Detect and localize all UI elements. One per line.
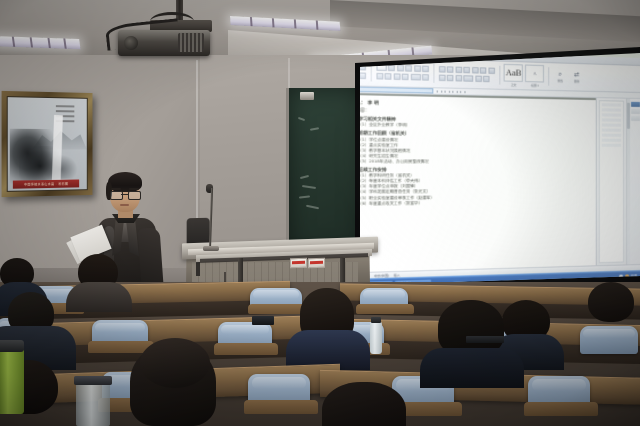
style-preview-normal[interactable]: AaB — [504, 64, 523, 82]
task-pane-button[interactable] — [631, 102, 640, 107]
styles-task-pane — [596, 98, 640, 265]
person-head — [140, 338, 210, 388]
style-preview-heading1[interactable]: A — [525, 65, 544, 83]
ribbon-button-find[interactable]: ⌕ 查找 — [553, 71, 567, 83]
doc-section-heading: 3、后续工作安排 — [352, 166, 590, 172]
chair-armrest — [214, 343, 278, 355]
cup-lid — [74, 376, 112, 385]
bottle-cap — [371, 317, 381, 323]
water-bottle — [370, 322, 382, 354]
lecture-hall-photo: 中国传统水墨山水画 · 松石图 文件 开始 插入 页面布局 引用 邮件 审阅 视… — [0, 0, 640, 426]
chalk-box — [308, 258, 325, 269]
ribbon-group-paragraph — [439, 62, 495, 87]
ribbon-style-gallery[interactable]: AaB 正文 A 标题 1 — [504, 64, 544, 87]
presenter-eyebrow — [129, 188, 139, 190]
scrollbar-thumb[interactable] — [627, 103, 630, 129]
presenter-eyebrow — [111, 188, 121, 190]
word-window: 文件 开始 插入 页面布局 引用 邮件 审阅 视图 — [352, 52, 640, 286]
screen-roller-clip — [300, 92, 314, 100]
glass-cup — [76, 382, 110, 426]
chalkboard — [286, 88, 363, 256]
word-document-area: 主持人： 李 明 会议内容： 1、学习相关文件精神 （1）全区外业教学（李明） … — [352, 93, 640, 273]
task-pane-button[interactable] — [631, 116, 640, 121]
person-torso — [570, 314, 640, 356]
ribbon-button-label: 查找 — [557, 78, 562, 82]
doc-section-item: （6）年度重点攻关工作（张富华） — [358, 199, 590, 207]
status-mode: 插入 — [394, 272, 400, 276]
task-pane-button[interactable] — [631, 109, 640, 114]
green-thermos — [0, 348, 24, 414]
ribbon-button-replace[interactable]: ⇄ 替换 — [570, 71, 583, 83]
person-torso — [66, 282, 132, 312]
doc-section-item: （5）2018年活动、办公用房整改情况 — [358, 159, 590, 165]
laptop-edge — [466, 336, 504, 343]
smartphone — [252, 316, 274, 325]
chalk-box — [290, 258, 307, 269]
style-label: 正文 — [504, 82, 523, 87]
person-head — [322, 382, 406, 426]
eyeglasses-icon — [110, 191, 140, 198]
replace-icon: ⇄ — [574, 72, 579, 78]
styles-list[interactable] — [599, 100, 624, 263]
chair-armrest — [524, 402, 598, 416]
task-pane-scrollbar[interactable] — [626, 99, 630, 265]
ribbon-button-label: 替换 — [574, 79, 579, 83]
task-pane-buttons — [630, 99, 640, 265]
document-page[interactable]: 主持人： 李 明 会议内容： 1、学习相关文件精神 （1）全区外业教学（李明） … — [352, 95, 596, 273]
thermos-lid — [0, 340, 24, 352]
projection-screen: 文件 开始 插入 页面布局 引用 邮件 审阅 视图 — [352, 52, 640, 286]
presenter-mouth — [120, 204, 129, 206]
painting-caption-text: 中国传统水墨山水画 · 松石图 — [24, 182, 68, 187]
chair-armrest — [248, 304, 308, 314]
microphone-base — [203, 246, 219, 251]
chair-armrest — [356, 304, 414, 314]
person-torso — [420, 348, 524, 388]
projector-vent — [178, 33, 204, 52]
chair-armrest — [244, 400, 318, 414]
search-icon: ⌕ — [558, 71, 562, 77]
framed-ink-painting: 中国传统水墨山水画 · 松石图 — [2, 91, 93, 197]
painting-caption-plate: 中国传统水墨山水画 · 松石图 — [13, 179, 79, 189]
style-label: 标题 1 — [525, 83, 544, 88]
